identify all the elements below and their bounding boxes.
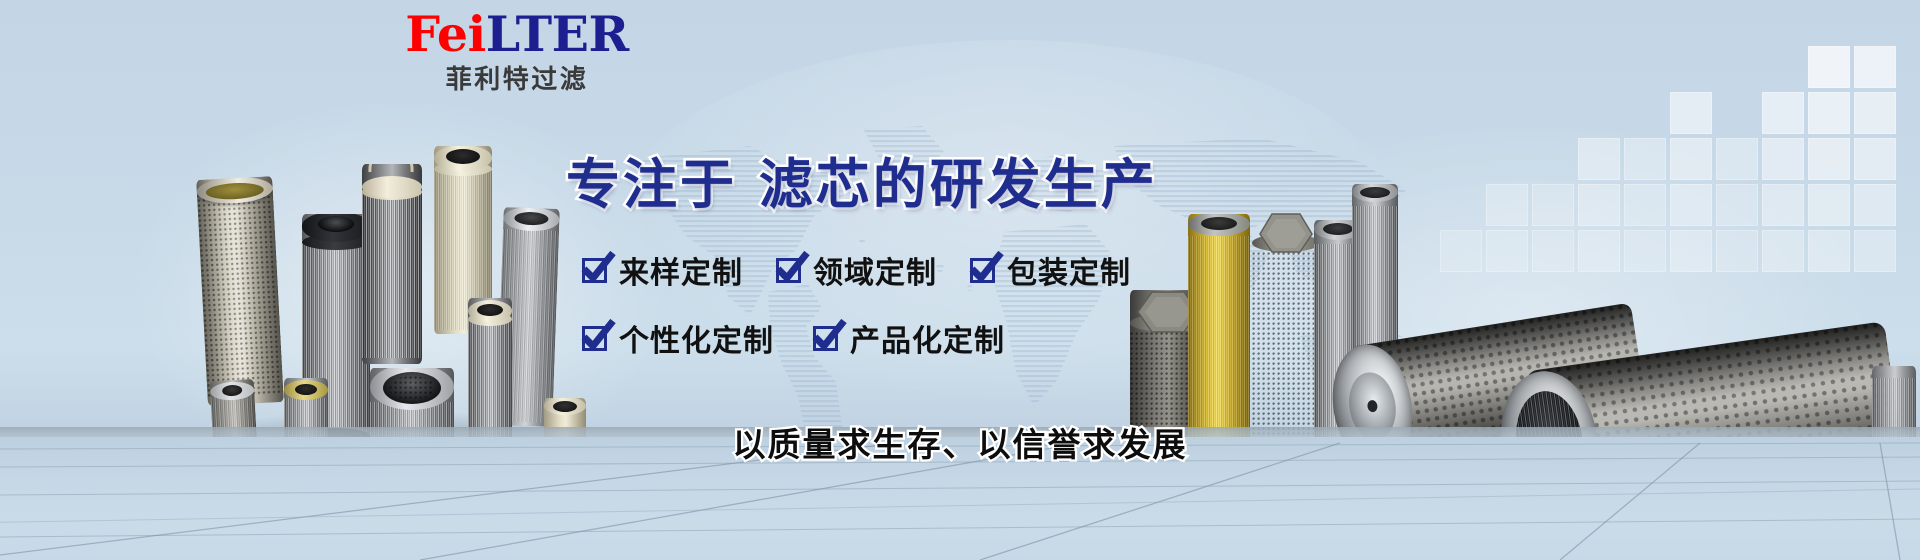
mosaic-square [1854, 46, 1896, 88]
check-icon [813, 326, 838, 351]
check-icon [582, 326, 607, 351]
company-logo: FeiLTER 菲利特过滤 [392, 10, 642, 93]
feature-item: 包装定制 [970, 248, 1131, 292]
feature-item: 个性化定制 [582, 316, 774, 360]
logo-wordmark-part2: LTER [486, 5, 629, 63]
logo-subtitle: 菲利特过滤 [392, 67, 642, 93]
feature-label: 来样定制 [619, 248, 743, 292]
feature-list-row-2: 个性化定制 产品化定制 [582, 316, 1005, 360]
filter-cartridge [468, 298, 512, 448]
check-icon [776, 258, 801, 283]
mosaic-square [1808, 46, 1850, 88]
check-icon [970, 258, 995, 283]
mosaic-square [1670, 92, 1712, 134]
filter-cartridge [196, 176, 284, 406]
filter-cartridge [362, 164, 422, 364]
feature-label: 产品化定制 [850, 316, 1005, 360]
check-icon [582, 258, 607, 283]
feature-item: 来样定制 [582, 248, 743, 292]
feature-item: 领域定制 [776, 248, 937, 292]
mosaic-square [1854, 92, 1896, 134]
feature-label: 包装定制 [1007, 248, 1131, 292]
logo-wordmark: FeiLTER [392, 10, 642, 59]
feature-label: 领域定制 [813, 248, 937, 292]
feature-label: 个性化定制 [619, 316, 774, 360]
tagline: 以质量求生存、以信誉求发展 [560, 418, 1360, 466]
filter-cartridge-group-left [186, 130, 586, 460]
promotional-banner: FeiLTER 菲利特过滤 专注于 滤芯的研发生产 来样定制 领域定制 包装定制 [0, 0, 1920, 560]
mosaic-square [1762, 92, 1804, 134]
mosaic-square [1808, 92, 1850, 134]
page-title: 专注于 滤芯的研发生产 [566, 140, 1158, 219]
feature-item: 产品化定制 [813, 316, 1005, 360]
logo-wordmark-part1: Fei [405, 5, 485, 63]
feature-list-row-1: 来样定制 领域定制 包装定制 [582, 248, 1131, 292]
